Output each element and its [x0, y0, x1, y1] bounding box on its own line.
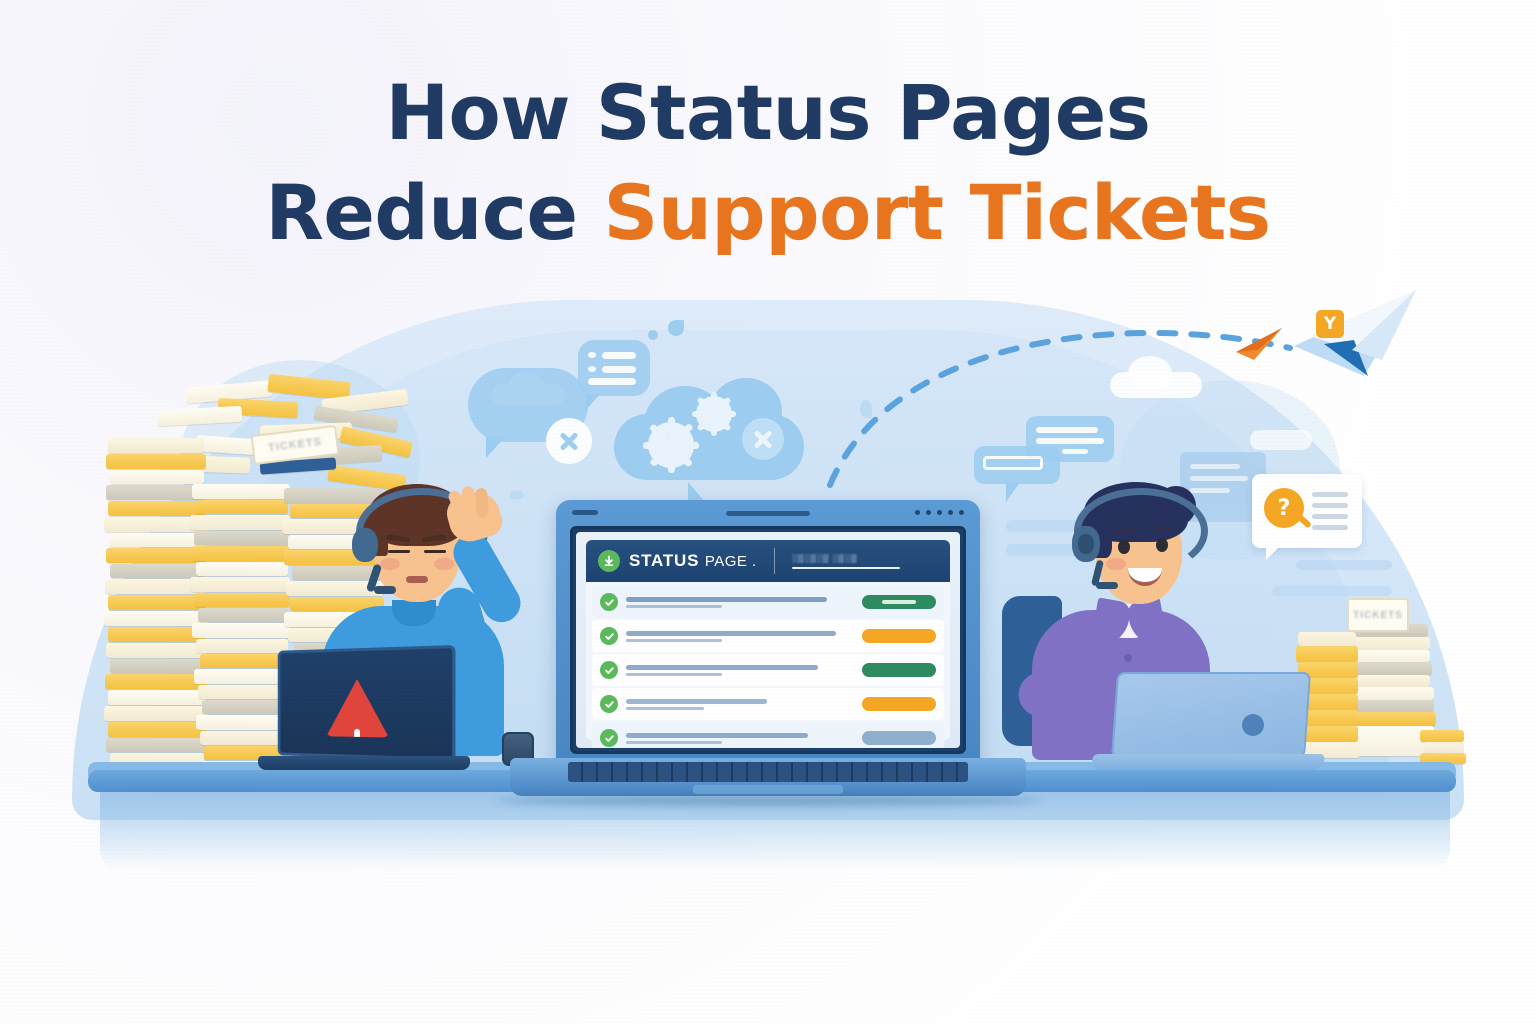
paper-plane-icon — [1232, 322, 1288, 364]
right-agent-eye — [1118, 540, 1130, 554]
status-page-screen[interactable]: STATUS PAGE . ░▒░▒░▒ ░▒░▒ — [576, 532, 960, 748]
status-badge — [862, 629, 936, 643]
row-text-placeholder — [626, 631, 854, 642]
status-page-header: STATUS PAGE . ░▒░▒░▒ ░▒░▒ — [586, 540, 950, 582]
laptop-keyboard[interactable] — [568, 762, 968, 782]
title-line-2: Reduce Support Tickets — [0, 174, 1536, 252]
check-circle-icon — [600, 695, 618, 713]
row-text-placeholder — [626, 699, 854, 710]
laptop-trackpad[interactable] — [693, 785, 843, 794]
row-text-placeholder — [626, 665, 854, 676]
bezel-indicator — [572, 510, 598, 515]
cloud-icon — [1398, 436, 1434, 464]
status-page-title-bold: STATUS — [629, 551, 699, 570]
page-title: How Status Pages Reduce Support Tickets — [0, 74, 1536, 251]
left-agent-blush — [434, 558, 454, 570]
faq-text-lines — [1312, 492, 1348, 530]
left-agent-eye — [388, 550, 410, 553]
right-agent-button — [1124, 654, 1132, 662]
illustration-canvas: Y — [0, 0, 1536, 1024]
close-x-icon — [742, 418, 784, 460]
check-circle-icon — [600, 661, 618, 679]
paper-plane-icon: Y — [1290, 288, 1420, 378]
warning-triangle-icon — [326, 679, 389, 738]
status-page-title: STATUS PAGE . — [629, 551, 757, 571]
left-agent-finger — [475, 488, 489, 519]
confetti-dot — [668, 320, 684, 336]
header-divider — [774, 548, 775, 574]
status-page-meta-text: ░▒░▒░▒ ░▒░▒ — [792, 554, 938, 563]
close-x-icon — [546, 418, 592, 464]
status-page-rows — [586, 582, 950, 740]
title-line-2-navy: Reduce — [265, 168, 603, 257]
check-circle-icon — [600, 729, 618, 747]
status-badge — [862, 697, 936, 711]
status-page-meta-underline — [792, 567, 900, 569]
status-page-laptop: STATUS PAGE . ░▒░▒░▒ ░▒░▒ — [556, 500, 980, 800]
status-badge — [862, 731, 936, 745]
plane-badge-icon: Y — [1316, 310, 1344, 338]
status-page-meta: ░▒░▒░▒ ░▒░▒ — [792, 554, 938, 569]
right-laptop-logo — [1242, 714, 1264, 736]
right-agent-eye — [1156, 538, 1168, 552]
table-row[interactable] — [592, 620, 944, 652]
left-agent-eye — [424, 550, 446, 553]
speech-bubble-tail — [486, 436, 506, 458]
right-laptop-base — [1091, 754, 1325, 770]
title-line-1: How Status Pages — [0, 74, 1536, 152]
right-laptop-lid — [1111, 672, 1311, 758]
webcam-icon — [726, 511, 810, 516]
confetti-dot — [648, 330, 658, 340]
status-badge — [862, 595, 936, 609]
table-row[interactable] — [592, 688, 944, 720]
status-page-title-light: PAGE . — [705, 553, 757, 570]
check-circle-icon — [600, 627, 618, 645]
status-badge — [862, 663, 936, 677]
headset-earcup-inner — [1078, 534, 1094, 554]
laptop-lid: STATUS PAGE . ░▒░▒░▒ ░▒░▒ — [556, 500, 980, 768]
laptop-bezel: STATUS PAGE . ░▒░▒░▒ ░▒░▒ — [570, 526, 966, 754]
headset-mic-icon — [1096, 582, 1118, 589]
left-agent-blush — [380, 558, 400, 570]
download-circle-icon — [598, 550, 620, 572]
bezel-dots — [915, 510, 964, 515]
gear-cloud-icon — [614, 378, 804, 486]
gear-icon — [696, 396, 732, 432]
left-agent-mouth — [406, 576, 428, 583]
right-agent-laptop — [1070, 672, 1312, 782]
row-text-placeholder — [626, 597, 854, 608]
table-row[interactable] — [592, 586, 944, 618]
left-laptop-lid — [278, 645, 456, 761]
left-agent-laptop — [272, 648, 472, 776]
gear-icon — [648, 422, 694, 468]
right-agent-blush — [1106, 558, 1126, 570]
left-laptop-base — [258, 756, 470, 770]
check-circle-icon — [600, 593, 618, 611]
speech-bubble-tail — [586, 394, 600, 410]
title-line-2-orange: Support Tickets — [603, 168, 1270, 257]
row-text-placeholder — [626, 733, 854, 744]
laptop-shadow — [496, 796, 1041, 806]
decor-bar — [1296, 560, 1392, 570]
headset-earcup-icon — [352, 528, 378, 562]
table-row[interactable] — [592, 654, 944, 686]
ticket-stack-label-right: TICKETS — [1347, 598, 1409, 632]
laptop-base — [510, 758, 1026, 796]
headset-mic-icon — [374, 586, 396, 594]
table-row[interactable] — [592, 722, 944, 748]
